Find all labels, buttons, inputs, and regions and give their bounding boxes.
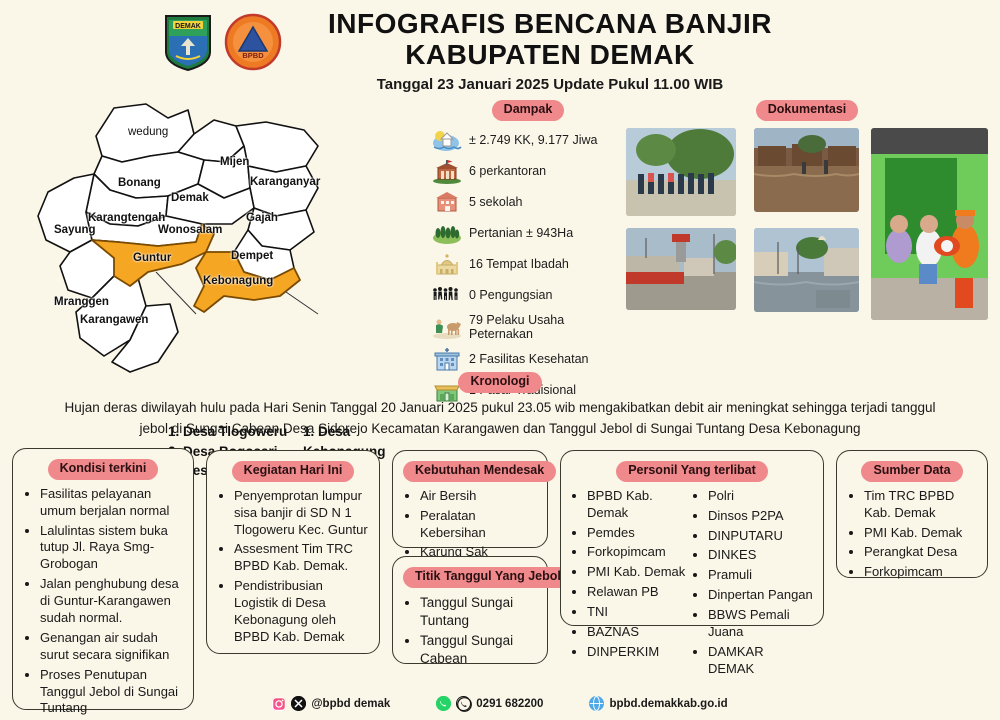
map-label-sayung: Sayung bbox=[54, 224, 96, 236]
dampak-item-text: ± 2.749 KK, 9.177 Jiwa bbox=[469, 133, 597, 147]
page-footer: @bpbd demak 0291 682200 bpbd.demakkab.go… bbox=[0, 696, 1000, 711]
personil-column-right: Polri Dinsos P2PA DINPUTARU DINKES Pramu… bbox=[692, 488, 813, 681]
kebutuhan-badge: Kebutuhan Mendesak bbox=[403, 461, 556, 482]
list-item: Relawan PB bbox=[587, 584, 690, 601]
card-personil-terlibat: Personil Yang terlibat BPBD Kab. Demak P… bbox=[560, 450, 824, 626]
kronologi-section: Kronologi Hujan deras diwilayah hulu pad… bbox=[40, 372, 960, 440]
card-kebutuhan-mendesak: Kebutuhan Mendesak Air Bersih Peralatan … bbox=[392, 450, 548, 548]
kegiatan-badge-wrap: Kegiatan Hari Ini bbox=[217, 461, 369, 482]
livestock-icon bbox=[432, 314, 462, 340]
instagram-icon[interactable] bbox=[272, 697, 286, 711]
map-label-kebonagung: Kebonagung bbox=[203, 275, 273, 287]
demak-regency-logo-icon: DEMAK bbox=[162, 12, 214, 72]
dampak-item-farmland: Pertanian ± 943Ha bbox=[432, 220, 624, 246]
list-item: PMI Kab. Demak bbox=[864, 525, 977, 542]
list-item: BBWS Pemali Juana bbox=[708, 607, 813, 641]
list-item: Penyemprotan lumpur sisa banjir di SD N … bbox=[234, 488, 369, 539]
list-item: Assesment Tim TRC BPBD Kab. Demak. bbox=[234, 541, 369, 575]
photo-grid bbox=[626, 128, 988, 320]
list-item: PMI Kab. Demak bbox=[587, 564, 690, 581]
personil-badge: Personil Yang terlibat bbox=[616, 461, 768, 482]
dampak-item-text: 16 Tempat Ibadah bbox=[469, 257, 569, 271]
list-item: Pemdes bbox=[587, 525, 690, 542]
map-label-guntur: Guntur bbox=[133, 252, 171, 264]
page-header: DEMAK BPBD INFOGRAFIS BENCANA BANJIR KAB… bbox=[0, 8, 1000, 93]
demak-district-map: wedung Mijen Karanganyar Bonang Demak Ka… bbox=[18, 100, 418, 385]
dampak-item-text: 5 sekolah bbox=[469, 195, 523, 209]
x-twitter-icon[interactable] bbox=[291, 696, 306, 711]
globe-icon[interactable] bbox=[589, 696, 604, 711]
photo-roadside-shops bbox=[626, 228, 736, 310]
map-svg bbox=[18, 100, 418, 390]
dampak-item-households: ± 2.749 KK, 9.177 Jiwa bbox=[432, 127, 624, 153]
dampak-item-offices: 6 perkantoran bbox=[432, 158, 624, 184]
personil-badge-wrap: Personil Yang terlibat bbox=[571, 461, 813, 482]
map-label-gajah: Gajah bbox=[246, 212, 278, 224]
list-item: Pramuli bbox=[708, 567, 813, 584]
list-item: BAZNAS bbox=[587, 624, 690, 641]
whatsapp-icon[interactable] bbox=[436, 696, 451, 711]
kondisi-badge: Kondisi terkini bbox=[48, 459, 159, 480]
map-label-mijen: Mijen bbox=[220, 156, 249, 168]
card-sumber-data: Sumber Data Tim TRC BPBD Kab. Demak PMI … bbox=[836, 450, 988, 578]
photo-flooded-village bbox=[754, 128, 859, 212]
list-item: Forkopimcam bbox=[864, 564, 977, 581]
card-kegiatan-hari-ini: Kegiatan Hari Ini Penyemprotan lumpur si… bbox=[206, 450, 380, 654]
dokumentasi-badge: Dokumentasi bbox=[756, 100, 859, 121]
school-icon bbox=[432, 189, 462, 215]
kronologi-badge-wrap: Kronologi bbox=[40, 372, 960, 393]
list-item: DAMKAR DEMAK bbox=[708, 644, 813, 678]
infographic-page: DEMAK BPBD INFOGRAFIS BENCANA BANJIR KAB… bbox=[0, 0, 1000, 720]
map-label-karangtengah: Karangtengah bbox=[88, 212, 165, 224]
kronologi-text: Hujan deras diwilayah hulu pada Hari Sen… bbox=[40, 398, 960, 440]
farmland-icon bbox=[432, 220, 462, 246]
list-item: BPBD Kab. Demak bbox=[587, 488, 690, 522]
photo-aid-distribution bbox=[871, 128, 988, 320]
svg-text:BPBD: BPBD bbox=[242, 51, 264, 60]
dampak-item-text: Pertanian ± 943Ha bbox=[469, 226, 573, 240]
list-item: Fasilitas pelayanan umum berjalan normal bbox=[40, 486, 183, 520]
list-item: Dinpertan Pangan bbox=[708, 587, 813, 604]
flood-house-icon bbox=[432, 127, 462, 153]
dampak-section: Dampak ± 2.749 KK, 9.177 Jiwa 6 perkanto… bbox=[432, 100, 624, 409]
sumber-list: Tim TRC BPBD Kab. Demak PMI Kab. Demak P… bbox=[847, 488, 977, 581]
list-item: DINPERKIM bbox=[587, 644, 690, 661]
dampak-item-text: 2 Fasilitas Kesehatan bbox=[469, 352, 589, 366]
logo-group: DEMAK BPBD bbox=[162, 12, 282, 72]
bpbd-logo-icon: BPBD bbox=[224, 13, 282, 71]
sumber-badge-wrap: Sumber Data bbox=[847, 461, 977, 482]
list-item: Jalan penghubung desa di Guntur-Karangaw… bbox=[40, 576, 183, 627]
list-item: Pendistribusian Logistik di Desa Kebonag… bbox=[234, 578, 369, 646]
dampak-badge-wrap: Dampak bbox=[432, 100, 624, 121]
map-label-wedung: wedung bbox=[128, 126, 168, 138]
photo-group-officials bbox=[626, 128, 736, 216]
list-item: Dinsos P2PA bbox=[708, 508, 813, 525]
refugees-icon bbox=[432, 282, 462, 308]
map-label-karangawen: Karangawen bbox=[80, 314, 148, 326]
dampak-badge: Dampak bbox=[492, 100, 565, 121]
kegiatan-badge: Kegiatan Hari Ini bbox=[232, 461, 355, 482]
list-item: DINKES bbox=[708, 547, 813, 564]
list-item: Air Bersih bbox=[420, 488, 537, 505]
office-icon bbox=[432, 158, 462, 184]
dampak-item-livestock: 79 Pelaku Usaha Peternakan bbox=[432, 313, 624, 342]
map-label-dempet: Dempet bbox=[231, 250, 273, 262]
dampak-item-health: 2 Fasilitas Kesehatan bbox=[432, 347, 624, 373]
kondisi-badge-wrap: Kondisi terkini bbox=[23, 459, 183, 480]
map-label-demak: Demak bbox=[171, 192, 209, 204]
list-item: Perangkat Desa bbox=[864, 544, 977, 561]
dampak-item-schools: 5 sekolah bbox=[432, 189, 624, 215]
list-item: Forkopimcam bbox=[587, 544, 690, 561]
map-label-karanganyar: Karanganyar bbox=[250, 176, 320, 188]
photo-flooded-street bbox=[754, 228, 859, 312]
card-kondisi-terkini: Kondisi terkini Fasilitas pelayanan umum… bbox=[12, 448, 194, 710]
card-titik-tanggul-jebol: Titik Tanggul Yang Jebol Tanggul Sungai … bbox=[392, 556, 548, 664]
mosque-icon bbox=[432, 251, 462, 277]
phone-icon[interactable] bbox=[456, 696, 471, 711]
footer-phone-number: 0291 682200 bbox=[476, 698, 543, 710]
list-item: Polri bbox=[708, 488, 813, 505]
dampak-item-text: 0 Pengungsian bbox=[469, 288, 552, 302]
kebutuhan-badge-wrap: Kebutuhan Mendesak bbox=[403, 461, 537, 482]
dampak-item-evacuation: 0 Pengungsian bbox=[432, 282, 624, 308]
hospital-icon bbox=[432, 347, 462, 373]
footer-social[interactable]: @bpbd demak bbox=[272, 696, 390, 711]
svg-text:DEMAK: DEMAK bbox=[175, 23, 201, 30]
list-item: Tanggul Sungai Tuntang bbox=[420, 594, 537, 630]
list-item: Peralatan Kebersihan bbox=[420, 508, 537, 542]
list-item: Lalulintas sistem buka tutup Jl. Raya Sm… bbox=[40, 523, 183, 574]
list-item: Tanggul Sungai Cabean bbox=[420, 632, 537, 668]
map-label-wonosalam: Wonosalam bbox=[158, 224, 222, 236]
map-label-bonang: Bonang bbox=[118, 177, 161, 189]
personil-columns: BPBD Kab. Demak Pemdes Forkopimcam PMI K… bbox=[571, 488, 813, 681]
kondisi-list: Fasilitas pelayanan umum berjalan normal… bbox=[23, 486, 183, 718]
footer-social-handle: @bpbd demak bbox=[311, 698, 390, 710]
list-item: TNI bbox=[587, 604, 690, 621]
titik-badge-wrap: Titik Tanggul Yang Jebol bbox=[403, 567, 537, 588]
list-item: Tim TRC BPBD Kab. Demak bbox=[864, 488, 977, 522]
page-title: INFOGRAFIS BENCANA BANJIR KABUPATEN DEMA… bbox=[0, 8, 1000, 71]
titik-badge: Titik Tanggul Yang Jebol bbox=[403, 567, 573, 588]
dokumentasi-section: Dokumentasi bbox=[626, 100, 988, 320]
sumber-badge: Sumber Data bbox=[861, 461, 962, 482]
kronologi-badge: Kronologi bbox=[458, 372, 541, 393]
dampak-item-worship: 16 Tempat Ibadah bbox=[432, 251, 624, 277]
footer-website[interactable]: bpbd.demakkab.go.id bbox=[589, 696, 727, 711]
list-item: DINPUTARU bbox=[708, 528, 813, 545]
dampak-item-text: 79 Pelaku Usaha Peternakan bbox=[469, 313, 624, 342]
kegiatan-list: Penyemprotan lumpur sisa banjir di SD N … bbox=[217, 488, 369, 646]
page-subtitle: Tanggal 23 Januari 2025 Update Pukul 11.… bbox=[0, 76, 1000, 93]
map-label-mranggen: Mranggen bbox=[54, 296, 109, 308]
dampak-item-text: 6 perkantoran bbox=[469, 164, 546, 178]
titik-list: Tanggul Sungai Tuntang Tanggul Sungai Ca… bbox=[403, 594, 537, 668]
dokumentasi-badge-wrap: Dokumentasi bbox=[626, 100, 988, 121]
footer-website-url: bpbd.demakkab.go.id bbox=[609, 698, 727, 710]
footer-phone[interactable]: 0291 682200 bbox=[436, 696, 543, 711]
list-item: Genangan air sudah surut secara signifik… bbox=[40, 630, 183, 664]
personil-column-left: BPBD Kab. Demak Pemdes Forkopimcam PMI K… bbox=[571, 488, 690, 681]
